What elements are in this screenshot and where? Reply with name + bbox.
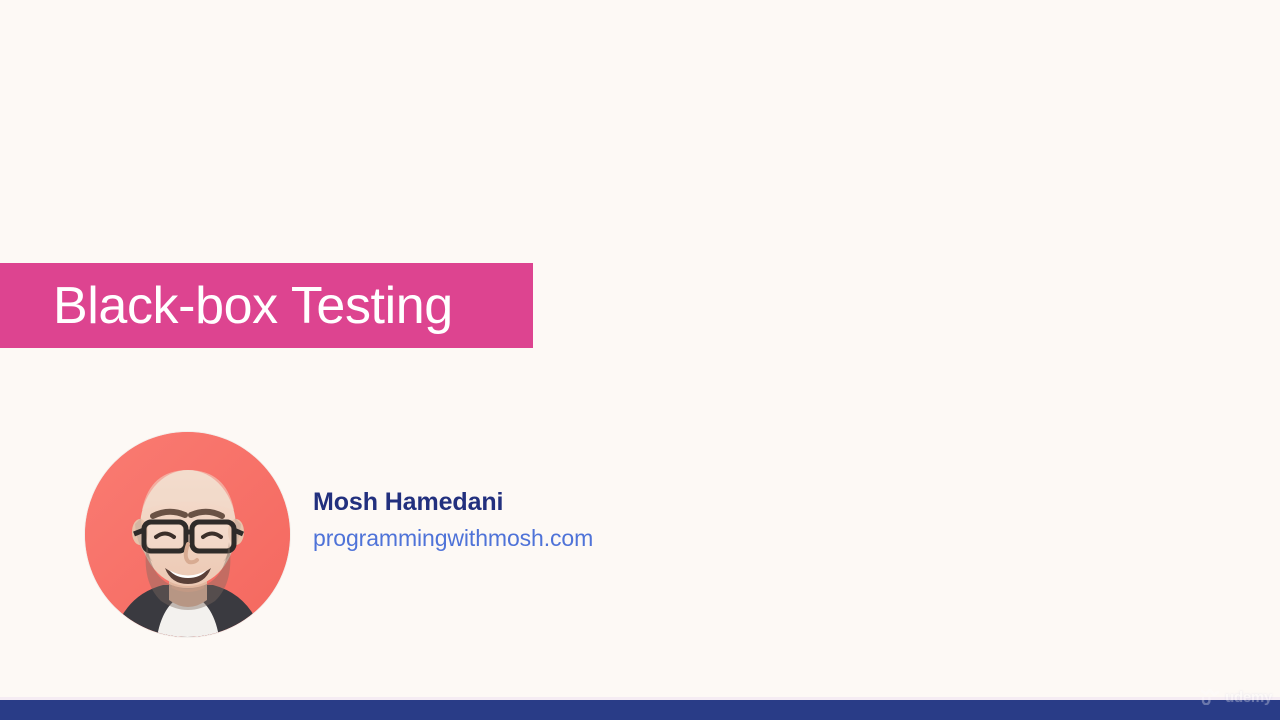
presenter-block: Mosh Hamedani programmingwithmosh.com <box>85 432 785 642</box>
player-bottom-bar[interactable] <box>0 700 1280 720</box>
avatar <box>85 432 290 637</box>
slide-title: Black-box Testing <box>0 280 453 332</box>
title-banner: Black-box Testing <box>0 263 533 348</box>
slide-canvas: Black-box Testing <box>0 0 1280 720</box>
presenter-website: programmingwithmosh.com <box>313 524 773 554</box>
presenter-name: Mosh Hamedani <box>313 487 773 518</box>
presenter-info: Mosh Hamedani programmingwithmosh.com <box>313 487 773 554</box>
